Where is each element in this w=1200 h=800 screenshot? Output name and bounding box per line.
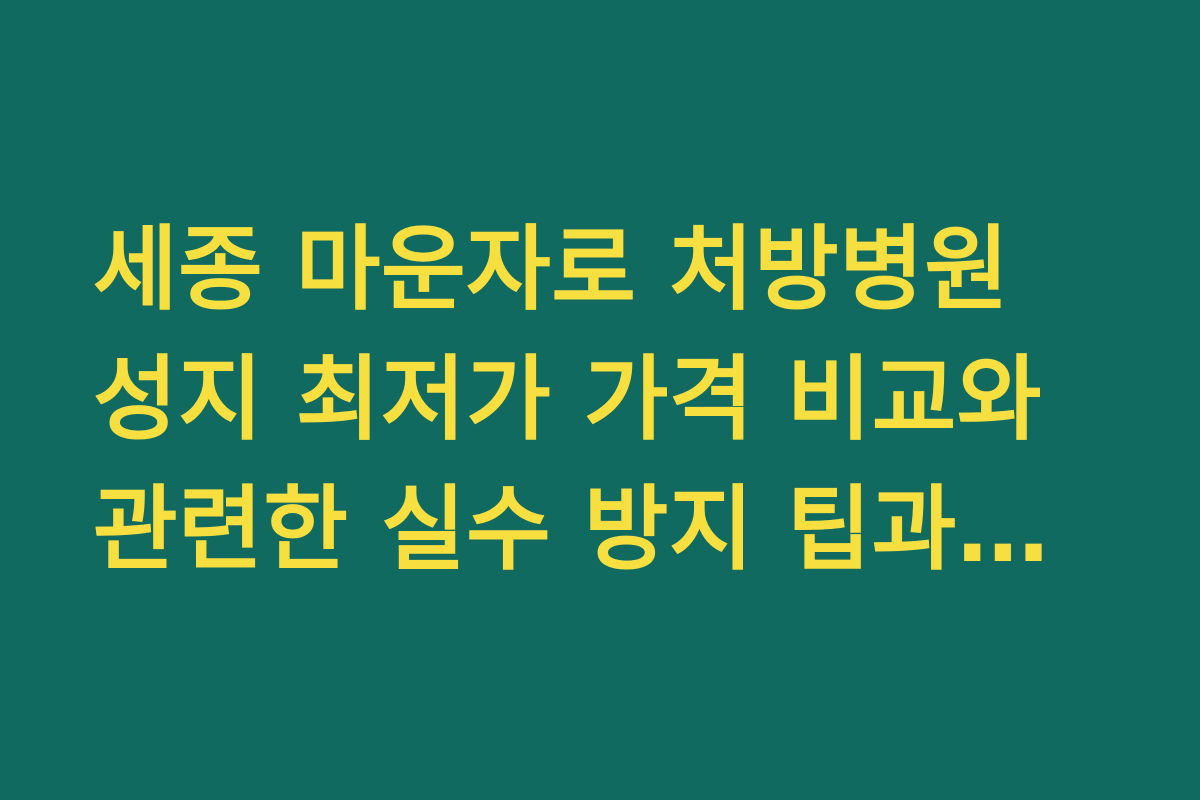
headline-line-3: 관련한 실수 방지 팁과… <box>93 465 1133 595</box>
headline-block: 세종 마운자로 처방병원 성지 최저가 가격 비교와 관련한 실수 방지 팁과… <box>93 205 1133 595</box>
headline-line-1: 세종 마운자로 처방병원 <box>93 205 1133 335</box>
thumbnail-card: 세종 마운자로 처방병원 성지 최저가 가격 비교와 관련한 실수 방지 팁과… <box>0 0 1200 800</box>
headline-line-2: 성지 최저가 가격 비교와 <box>93 335 1133 465</box>
